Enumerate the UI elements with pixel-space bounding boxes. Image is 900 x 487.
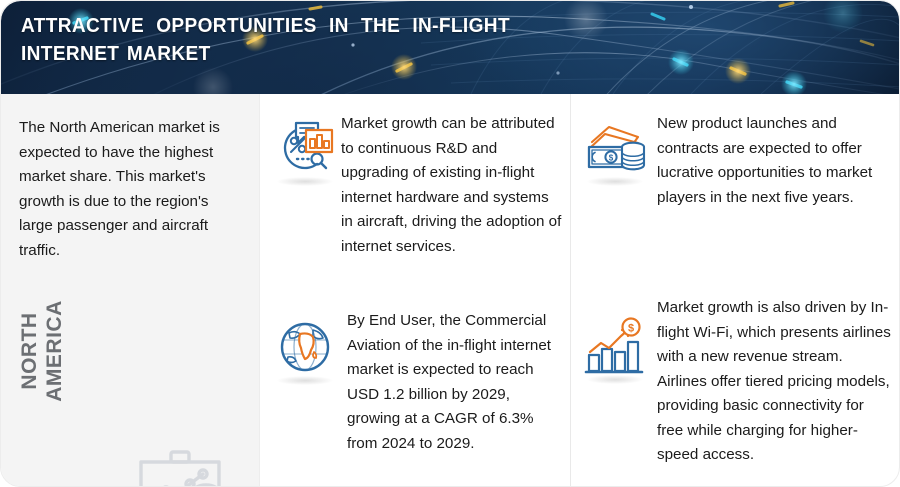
insight-text: Market growth can be attributed to conti… <box>341 112 563 259</box>
header-banner: ATTRACTIVE OPPORTUNITIES IN THE IN-FLIGH… <box>1 1 900 94</box>
content-area: The North American market is expected to… <box>1 94 900 487</box>
icon-shadow <box>587 375 643 384</box>
insight-text: Market growth is also driven by In-fligh… <box>657 290 891 468</box>
chart-easel-magnifier-icon <box>123 444 241 487</box>
svg-text:$: $ <box>609 154 614 163</box>
insight-card-end-user-commercial-aviation: By End User, the Commercial Aviation of … <box>271 309 563 456</box>
insight-text: New product launches and contracts are e… <box>657 112 891 210</box>
insight-card-inflight-wifi-revenue: $ Market growth is also driven by In-fli… <box>581 290 891 468</box>
bar-chart-growth-dollar-icon: $ <box>581 312 649 380</box>
globe-icon <box>271 313 339 381</box>
infographic-root: ATTRACTIVE OPPORTUNITIES IN THE IN-FLIGH… <box>0 0 900 487</box>
icon-shadow <box>587 177 643 186</box>
insight-text: By End User, the Commercial Aviation of … <box>347 309 563 456</box>
page-title: ATTRACTIVE OPPORTUNITIES IN THE IN-FLIGH… <box>21 12 542 68</box>
icon-shadow <box>277 177 333 186</box>
divider-left <box>259 94 260 487</box>
page-title-line-2: INTERNET MARKET <box>21 40 542 68</box>
insight-card-rd-upgrading: Market growth can be attributed to conti… <box>271 112 563 259</box>
page-title-line-1: ATTRACTIVE OPPORTUNITIES IN THE IN-FLIGH… <box>21 12 542 40</box>
region-description: The North American market is expected to… <box>19 116 245 263</box>
pie-percent-magnifier-bar-icon <box>271 114 339 182</box>
region-panel: The North American market is expected to… <box>1 94 259 487</box>
divider-right <box>570 94 571 487</box>
svg-text:$: $ <box>628 322 634 334</box>
money-banknote-coins-icon: $ <box>581 114 649 182</box>
icon-shadow <box>277 376 333 385</box>
insight-card-new-product-launches: $ New product launches and contracts are… <box>581 112 891 210</box>
region-label: NORTH AMERICA <box>17 276 67 426</box>
